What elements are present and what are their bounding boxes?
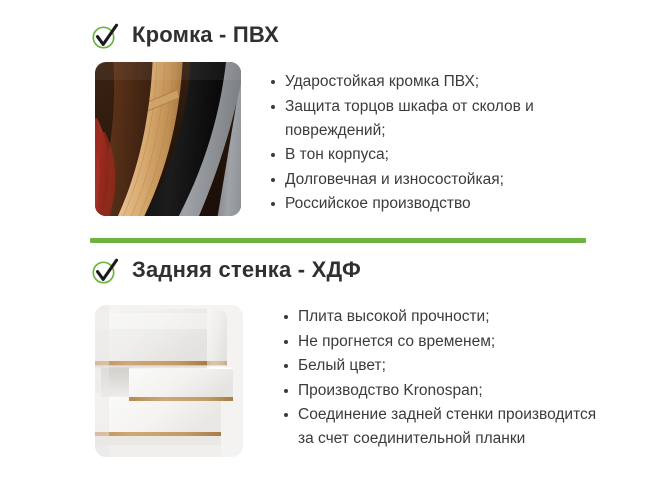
section-heading-row-edge: Кромка - ПВХ — [90, 20, 279, 50]
list-item: В тон корпуса; — [270, 143, 600, 167]
section-divider — [90, 238, 586, 243]
feature-comparison-page: Кромка - ПВХ — [0, 0, 652, 500]
green-check-circle-icon — [90, 21, 120, 51]
green-check-circle-icon — [90, 256, 120, 286]
list-item: Не прогнется со временем; — [283, 330, 613, 354]
list-item: Российское производство — [270, 192, 600, 216]
section-heading-row-back: Задняя стенка - ХДФ — [90, 255, 361, 285]
section-title-edge: Кромка - ПВХ — [132, 24, 279, 46]
pvc-edge-banding-photo — [95, 62, 241, 216]
list-item: Ударостойкая кромка ПВХ; — [270, 70, 600, 94]
hdf-back-panel-photo — [95, 305, 243, 457]
list-item: Белый цвет; — [283, 354, 613, 378]
list-item: Защита торцов шкафа от сколов и поврежде… — [270, 95, 600, 143]
list-item: Производство Kronospan; — [283, 379, 613, 403]
feature-list-edge: Ударостойкая кромка ПВХ; Защита торцов ш… — [270, 70, 600, 217]
list-item: Соединение задней стенки производится за… — [283, 403, 613, 451]
list-item: Долговечная и износостойкая; — [270, 168, 600, 192]
list-item: Плита высокой прочности; — [283, 305, 613, 329]
section-title-back: Задняя стенка - ХДФ — [132, 259, 361, 281]
feature-list-back: Плита высокой прочности; Не прогнется со… — [283, 305, 613, 452]
